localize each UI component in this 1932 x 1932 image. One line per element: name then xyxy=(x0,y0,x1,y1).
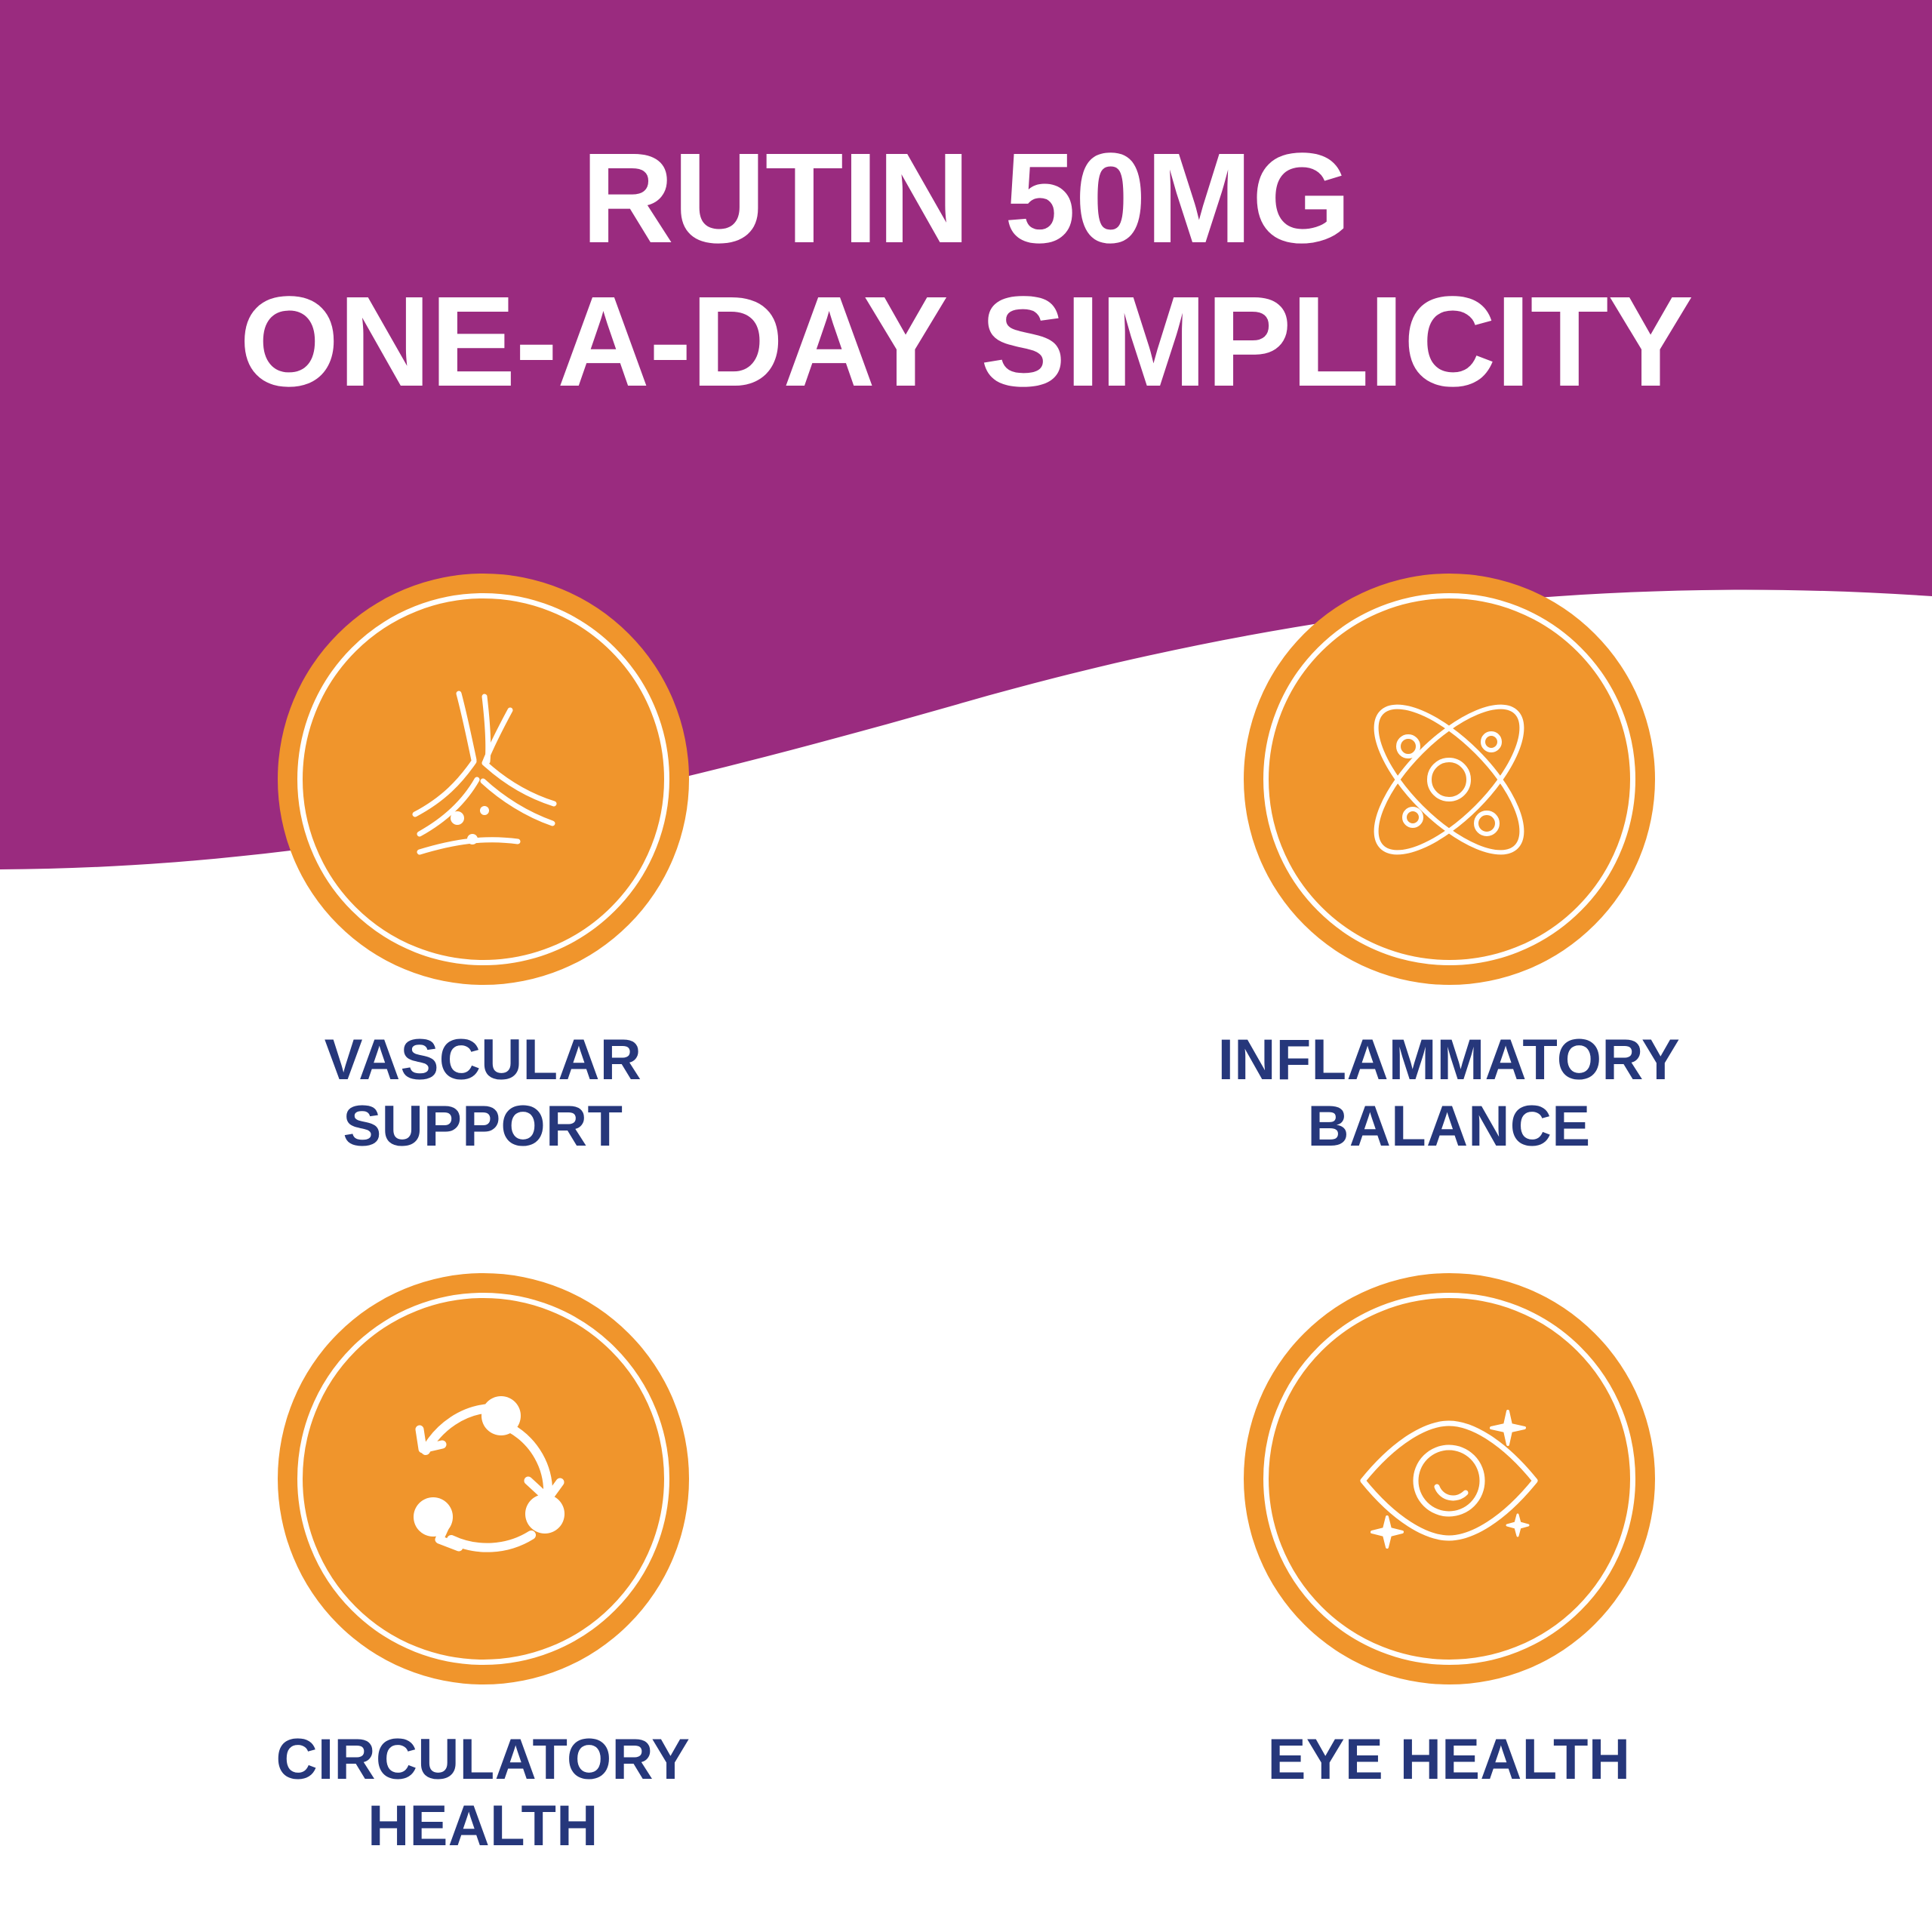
feature-label: CIRCULATORY HEALTH xyxy=(276,1727,691,1860)
feature-badge xyxy=(1244,1273,1655,1684)
feature-item-circulatory-health: CIRCULATORY HEALTH xyxy=(0,1273,966,1860)
atom-molecule-icon xyxy=(1336,666,1562,893)
vein-vascular-icon xyxy=(370,666,596,893)
feature-label: INFLAMMATORY BALANCE xyxy=(1218,1027,1681,1160)
infographic-poster: RUTIN 50MG ONE-A-DAY SIMPLICITY xyxy=(0,0,1932,1932)
feature-item-eye-health: EYE HEALTH xyxy=(966,1273,1932,1860)
feature-badge xyxy=(278,574,689,985)
eye-icon xyxy=(1336,1366,1562,1592)
feature-badge xyxy=(278,1273,689,1684)
feature-item-inflammatory-balance: INFLAMMATORY BALANCE xyxy=(966,574,1932,1160)
feature-label: VASCULAR SUPPORT xyxy=(325,1027,642,1160)
feature-grid: VASCULAR SUPPORT INFLAMM xyxy=(0,574,1932,1860)
feature-badge xyxy=(1244,574,1655,985)
feature-label: EYE HEALTH xyxy=(1268,1727,1631,1793)
feature-item-vascular-support: VASCULAR SUPPORT xyxy=(0,574,966,1160)
circular-arrows-icon xyxy=(370,1366,596,1592)
